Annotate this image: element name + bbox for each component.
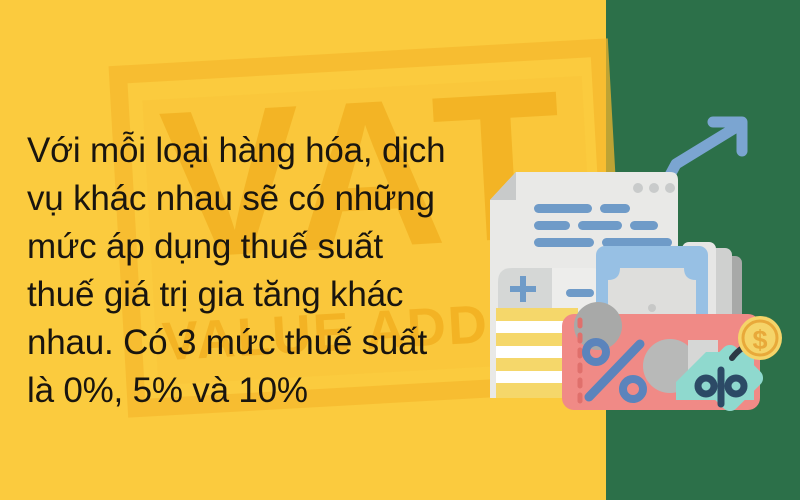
minus-icon bbox=[566, 289, 594, 297]
body-text-line-3: mức áp dụng thuế suất bbox=[27, 223, 477, 271]
body-text-line-2: vụ khác nhau sẽ có những bbox=[27, 175, 477, 223]
body-text-line-4: thuế giá trị gia tăng khác bbox=[27, 271, 477, 319]
body-text-line-1: Với mỗi loại hàng hóa, dịch bbox=[27, 127, 477, 175]
svg-text:$: $ bbox=[752, 325, 767, 355]
body-text-line-6: là 0%, 5% và 10% bbox=[27, 367, 477, 415]
poster-canvas: VAT VALUE ADDED Với mỗi loại hàng hóa, d… bbox=[0, 0, 800, 500]
vat-illustration: $ bbox=[470, 108, 760, 400]
dollar-coin-small-icon: $ bbox=[738, 316, 782, 360]
body-text-line-5: nhau. Có 3 mức thuế suất bbox=[27, 319, 477, 367]
body-text-block: Với mỗi loại hàng hóa, dịch vụ khác nhau… bbox=[27, 127, 477, 415]
window-dots-icon bbox=[633, 183, 675, 193]
